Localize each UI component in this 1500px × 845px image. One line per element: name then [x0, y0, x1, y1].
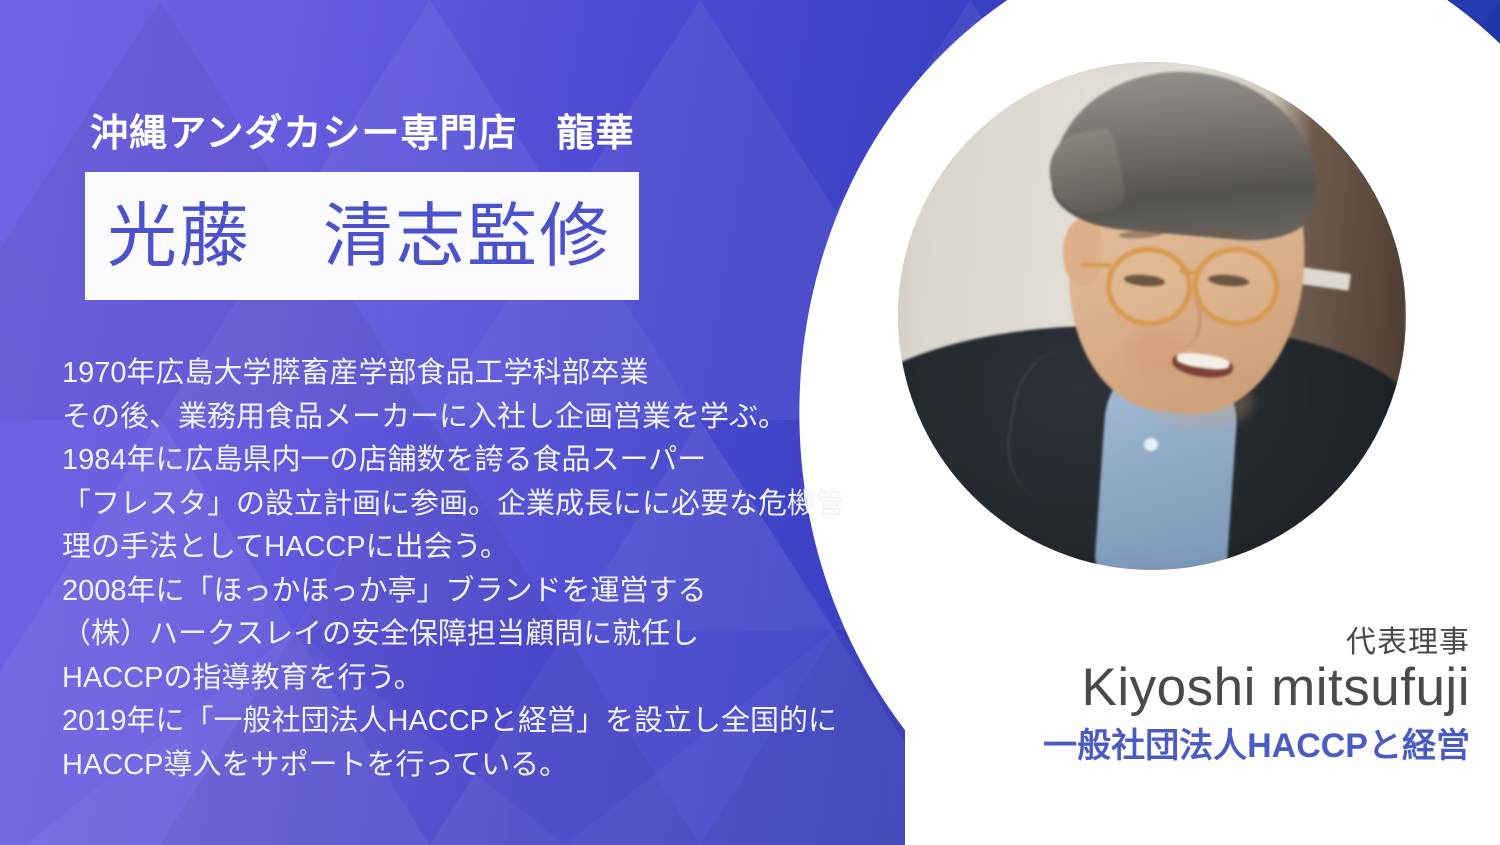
profile-name-en: Kiyoshi mitsufuji	[0, 657, 1470, 718]
profile-role: 代表理事	[0, 617, 1470, 661]
profile-organization: 一般社団法人HACCPと経営	[0, 718, 1470, 767]
avatar	[898, 62, 1406, 570]
profile-slide: 沖縄アンダカシー専門店 龍華 光藤 清志監修 1970年広島大学膵畜産学部食品工…	[0, 0, 1500, 845]
shop-name-line: 沖縄アンダカシー専門店 龍華	[90, 102, 634, 157]
supervisor-name-box: 光藤 清志監修	[85, 172, 639, 300]
portrait-photo	[898, 62, 1406, 570]
supervisor-name: 光藤 清志監修	[107, 201, 611, 271]
photo-vignette	[898, 62, 1406, 570]
